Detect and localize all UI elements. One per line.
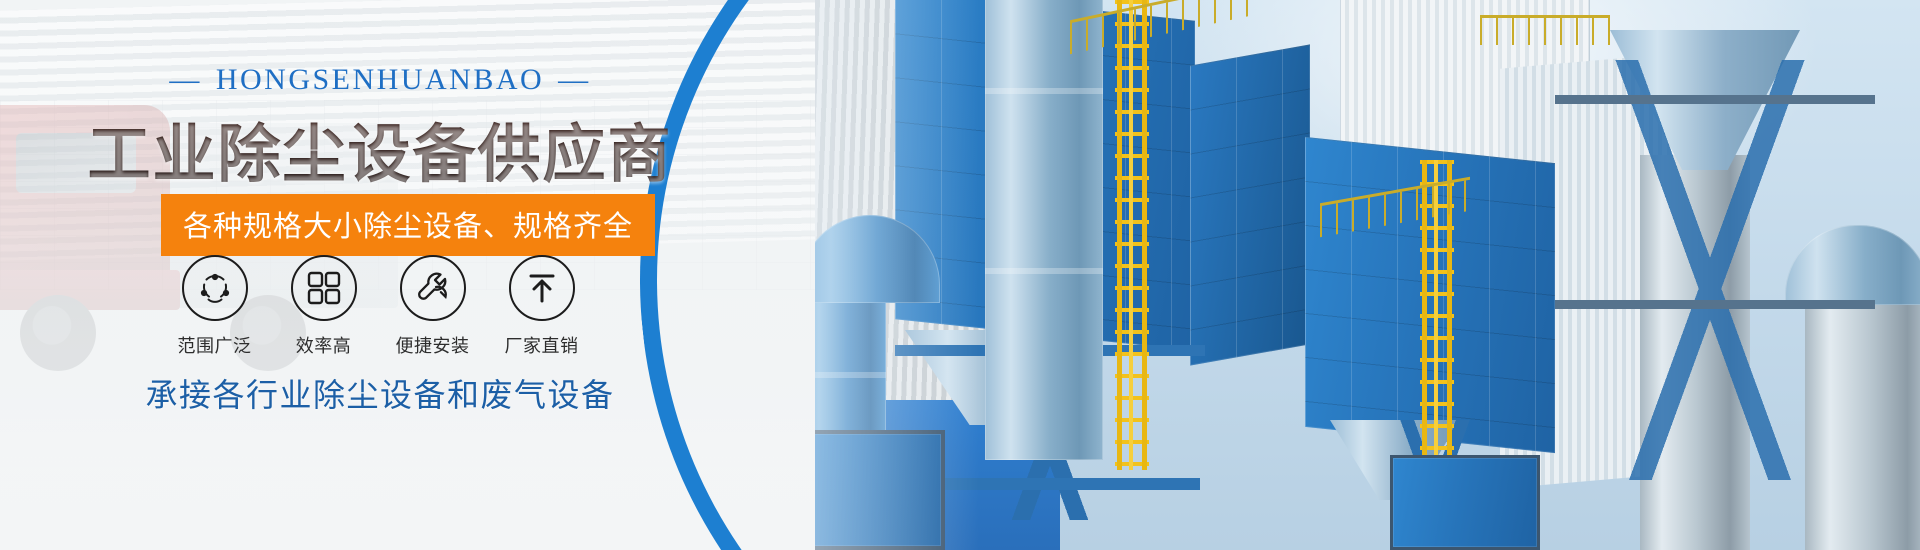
frame-beam-top xyxy=(1555,95,1875,104)
grid-four-squares-icon xyxy=(305,269,343,307)
share-network-icon xyxy=(195,268,235,308)
eyebrow-dash-right: — xyxy=(558,63,591,97)
industrial-equipment-photo xyxy=(800,0,1920,550)
subtitle-orange-bar: 各种规格大小除尘设备、规格齐全 xyxy=(161,194,655,256)
steel-frame-right xyxy=(1560,60,1860,480)
frame-beam-mid xyxy=(1555,300,1875,309)
caged-ladder-1 xyxy=(1115,0,1149,470)
feature-label: 便捷安装 xyxy=(378,332,487,358)
feature-item-installation[interactable]: 便捷安装 xyxy=(378,255,487,358)
baghouse-unit-1-side xyxy=(1190,44,1310,365)
service-door-1 xyxy=(800,430,945,550)
page-title: 工业除尘设备供应商 xyxy=(0,104,760,195)
platform-railing-3 xyxy=(1480,15,1610,45)
riser-ring-2 xyxy=(985,268,1103,274)
feature-list: 范围广泛 效率高 xyxy=(160,255,596,358)
feature-icon-ring xyxy=(400,255,466,321)
service-door-2 xyxy=(1390,455,1540,550)
feature-icon-ring xyxy=(509,255,575,321)
eyebrow-text: HONGSENHUANBAO xyxy=(216,63,544,96)
riser-ring-1 xyxy=(985,88,1103,94)
cross-beam-2 xyxy=(900,478,1200,490)
feature-item-scope[interactable]: 范围广泛 xyxy=(160,255,269,358)
feature-item-efficiency[interactable]: 效率高 xyxy=(269,255,378,358)
feature-icon-ring xyxy=(291,255,357,321)
brand-eyebrow: —HONGSENHUANBAO— xyxy=(0,63,760,97)
hero-banner: —HONGSENHUANBAO— 工业除尘设备供应商 各种规格大小除尘设备、规格… xyxy=(0,0,1920,550)
eyebrow-dash-left: — xyxy=(169,63,202,97)
feature-label: 效率高 xyxy=(269,332,378,358)
feature-label: 范围广泛 xyxy=(160,332,269,358)
feature-label: 厂家直销 xyxy=(487,332,596,358)
feature-icon-ring xyxy=(182,255,248,321)
upload-arrow-icon xyxy=(523,269,561,307)
banner-content: —HONGSENHUANBAO— 工业除尘设备供应商 各种规格大小除尘设备、规格… xyxy=(0,0,815,550)
tagline: 承接各行业除尘设备和废气设备 xyxy=(0,370,760,416)
wrench-icon xyxy=(413,268,453,308)
riser-duct xyxy=(985,0,1103,460)
feature-item-factory-direct[interactable]: 厂家直销 xyxy=(487,255,596,358)
